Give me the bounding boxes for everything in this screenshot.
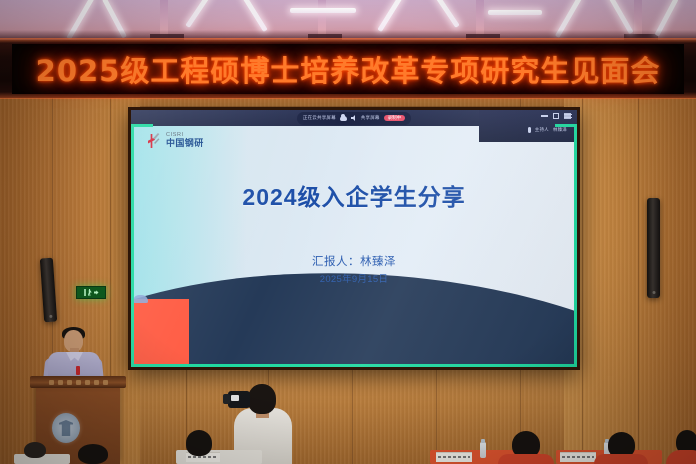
hamburger-menu-icon[interactable]: [564, 114, 572, 120]
name-card: [560, 452, 596, 462]
university-emblem: [52, 413, 80, 443]
slide-presenter: 汇报人：林臻泽: [131, 253, 577, 269]
slide-coral-shape: [133, 299, 189, 365]
camera-operator-head: [248, 384, 276, 414]
led-banner-text: 2025级工程硕博士培养改革专项研究生见面会: [36, 48, 661, 90]
cloud-icon: [340, 116, 347, 121]
share-status-text: 正在云共享屏幕: [303, 116, 336, 121]
arrow-right-icon: [94, 290, 99, 295]
recording-badge[interactable]: 录制中: [384, 115, 406, 122]
share-label-text: 共享屏幕: [361, 116, 380, 121]
maximize-icon[interactable]: [553, 113, 559, 119]
right-wall-panel: [564, 44, 696, 464]
wall-speaker-right: [647, 198, 660, 298]
attendee-body: [498, 454, 554, 464]
attendee-body: [594, 454, 648, 464]
water-bottle: [480, 442, 486, 458]
ceiling-light: [290, 8, 356, 13]
slide-title: 2024级入企学生分享: [131, 178, 577, 212]
attendee-head: [186, 430, 212, 456]
participant-label-2: 林臻泽: [553, 128, 567, 133]
screenshot-root: 2025级工程硕博士培养改革专项研究生见面会 正在云共享屏幕 共享屏幕: [0, 0, 696, 464]
cisri-logo-mark-icon: [145, 132, 162, 149]
participant-label-1: 主持人: [535, 128, 549, 133]
lectern-lettering: [34, 378, 122, 386]
share-border-right: [574, 124, 577, 367]
slide-badge-shape: [133, 295, 148, 303]
projection-screen: 正在云共享屏幕 共享屏幕 录制中 主持人 林臻泽: [128, 107, 580, 370]
name-card: [436, 452, 472, 462]
exit-sign: [76, 286, 106, 299]
share-border-top-right: [555, 124, 577, 127]
microphone-icon[interactable]: [528, 127, 531, 133]
ceiling-light: [488, 10, 542, 15]
speaker-icon: [351, 115, 357, 121]
attendee-body: [666, 450, 696, 464]
running-person-icon: [88, 289, 92, 296]
slide-date: 2025年9月15日: [131, 271, 577, 285]
share-border-bottom: [131, 364, 577, 367]
cisri-logo: CISRI 中国钢研: [145, 132, 204, 149]
attendee-head: [78, 444, 108, 464]
led-banner: 2025级工程硕博士培养改革专项研究生见面会: [12, 44, 684, 94]
share-status-pill[interactable]: 正在云共享屏幕 共享屏幕 录制中: [297, 112, 411, 125]
minimize-icon[interactable]: [541, 115, 548, 117]
share-border-top-left: [131, 124, 153, 127]
share-border-left: [131, 124, 134, 367]
presenter-badge: [76, 366, 80, 375]
attendee-head: [24, 442, 46, 458]
logo-chinese-text: 中国钢研: [166, 139, 204, 148]
